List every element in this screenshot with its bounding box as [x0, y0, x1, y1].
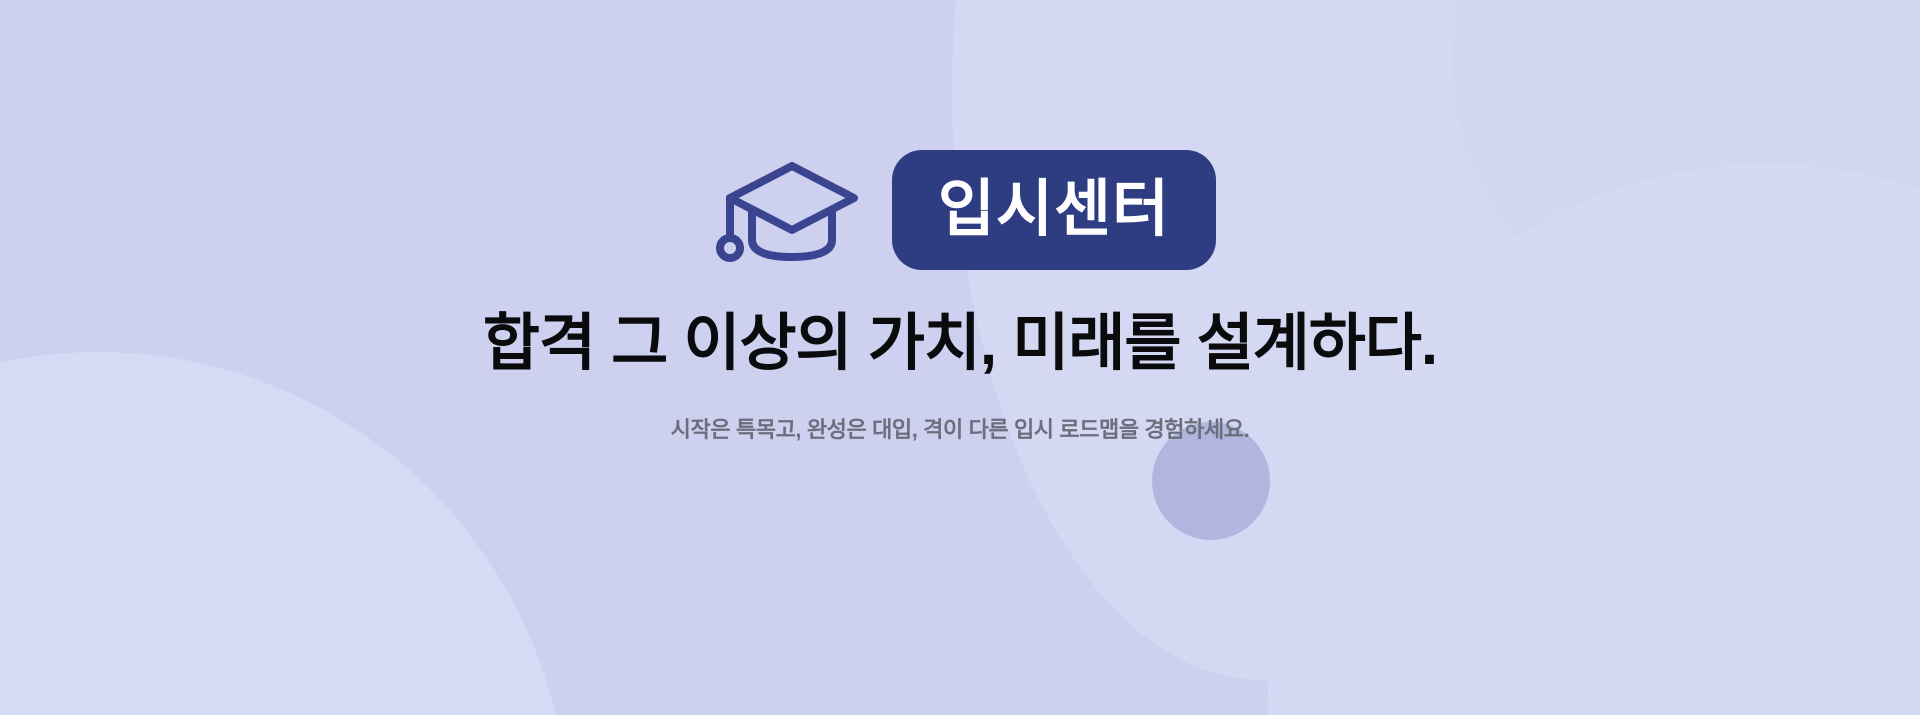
admissions-hero-banner: 입시센터 합격 그 이상의 가치, 미래를 설계하다. 시작은 특목고, 완성은…: [0, 0, 1920, 715]
hero-badge-row: 입시센터: [704, 148, 1216, 272]
hero-subtitle: 시작은 특목고, 완성은 대입, 격이 다른 입시 로드맵을 경험하세요.: [671, 415, 1250, 446]
admissions-center-badge[interactable]: 입시센터: [892, 150, 1216, 270]
hero-content: 입시센터 합격 그 이상의 가치, 미래를 설계하다. 시작은 특목고, 완성은…: [0, 0, 1920, 715]
hero-headline: 합격 그 이상의 가치, 미래를 설계하다.: [483, 308, 1437, 379]
graduation-cap-icon: [704, 158, 866, 262]
